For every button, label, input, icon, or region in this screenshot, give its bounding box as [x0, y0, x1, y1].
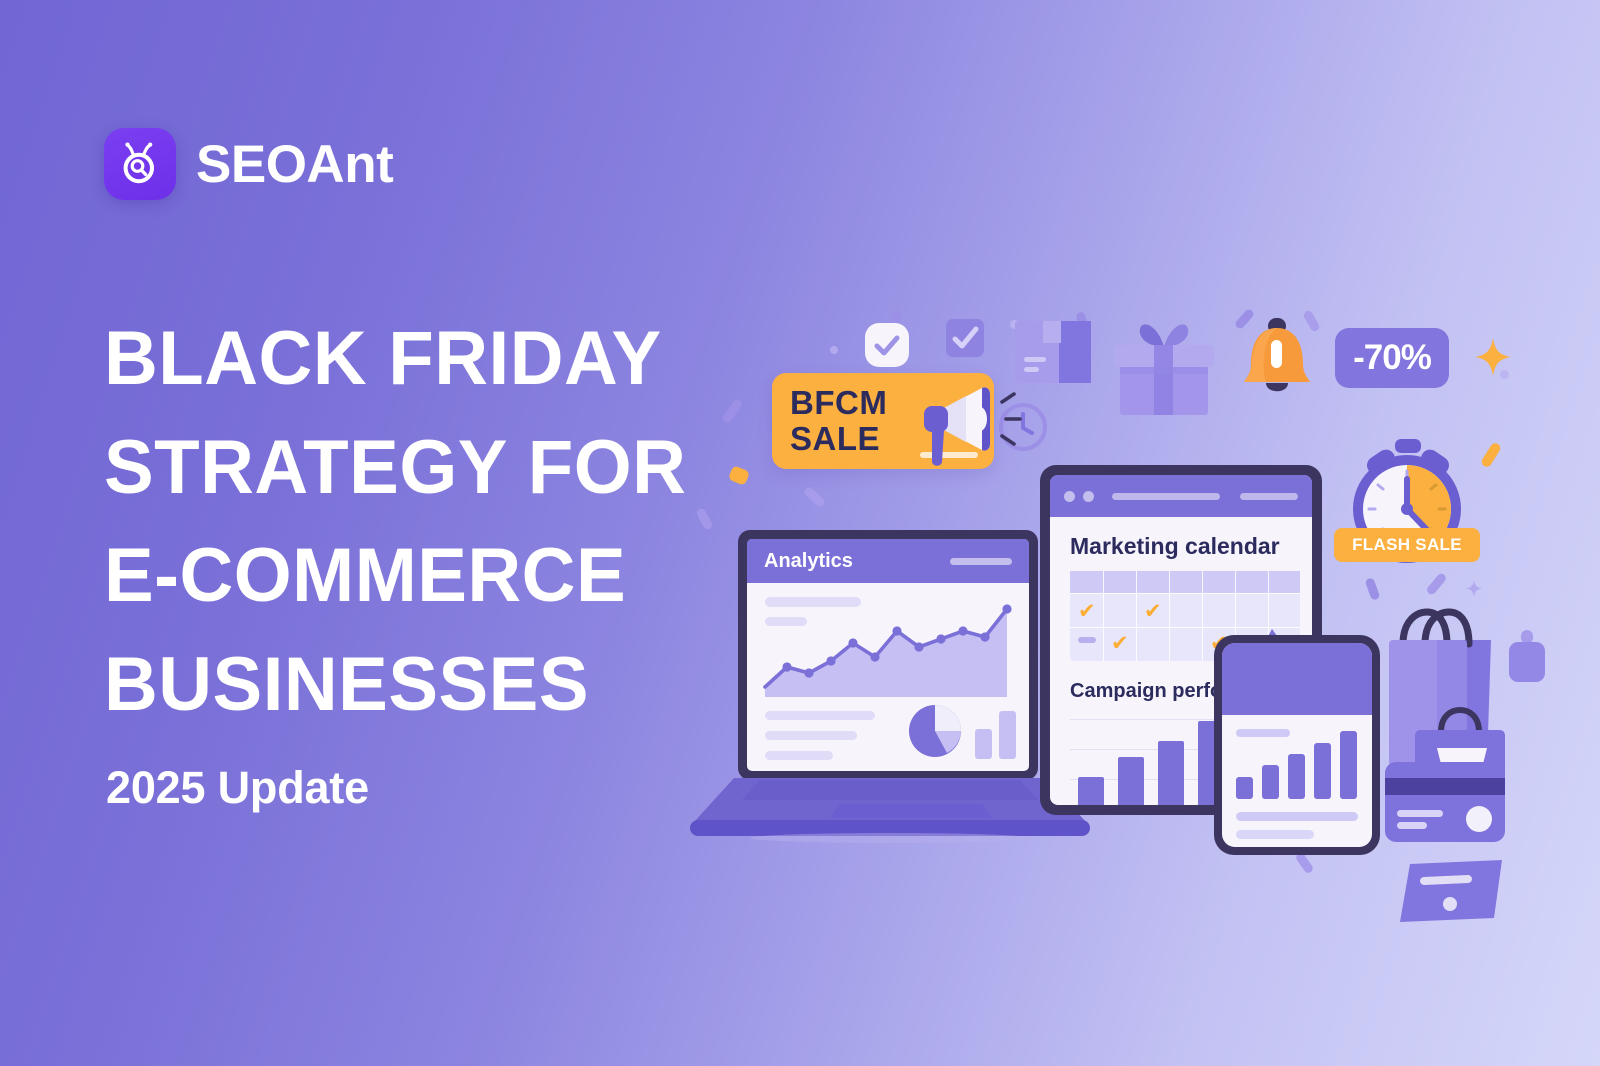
confetti-piece — [1425, 572, 1447, 596]
bar — [1288, 754, 1305, 799]
checkbox-outline-icon — [945, 318, 985, 358]
confetti-piece — [721, 398, 743, 424]
bar — [1236, 777, 1253, 799]
sparkle-icon — [1475, 338, 1511, 376]
phone-device — [1214, 635, 1380, 855]
credit-card-icon — [1398, 858, 1506, 924]
bar — [1314, 743, 1331, 799]
brand-logo[interactable]: SEOAnt — [104, 128, 393, 200]
confetti-piece — [695, 507, 713, 531]
laptop-device: Analytics — [738, 530, 1038, 780]
text-placeholder — [765, 731, 857, 740]
brand-name: SEOAnt — [196, 138, 393, 191]
window-dot — [1083, 491, 1094, 502]
window-dot — [1064, 491, 1075, 502]
bfcm-line-1: BFCM — [790, 385, 887, 421]
checkbox-filled-icon — [864, 322, 910, 368]
text-placeholder — [1236, 830, 1314, 839]
header-placeholder — [1112, 493, 1220, 500]
headline-line-4: BUSINESSES — [104, 631, 731, 740]
calendar-dash — [1078, 637, 1096, 643]
headline-line-3: E-COMMERCE — [104, 522, 731, 631]
megaphone-icon — [920, 382, 1026, 468]
laptop-dashboard — [747, 583, 1029, 771]
ant-magnifier-icon — [104, 128, 176, 200]
tag-icon — [1507, 630, 1547, 684]
phone-screen — [1222, 643, 1372, 847]
confetti-piece — [728, 465, 750, 486]
discount-badge-label: -70% — [1353, 338, 1431, 378]
laptop-screen-title: Analytics — [764, 550, 853, 573]
bfcm-badge-text: BFCM SALE — [790, 385, 887, 458]
phone-header-bar — [1222, 643, 1372, 715]
bell-icon — [1240, 318, 1314, 402]
laptop-screen: Analytics — [747, 539, 1029, 771]
calendar-check-icon: ✔ — [1111, 633, 1129, 654]
flash-sale-badge: FLASH SALE — [1334, 528, 1480, 562]
hero-illustration: -70% BFCM SALE — [680, 280, 1560, 920]
header-placeholder — [1240, 493, 1298, 500]
discount-badge: -70% — [1335, 328, 1449, 388]
banner-canvas: SEOAnt BLACK FRIDAY STRATEGY FOR E-COMME… — [0, 0, 1600, 1066]
text-placeholder — [1236, 812, 1358, 821]
tablet-heading: Marketing calendar — [1070, 533, 1280, 560]
calendar-check-icon: ✔ — [1078, 601, 1096, 622]
bar — [975, 729, 992, 759]
bar — [1118, 757, 1144, 805]
sparkle-icon — [1466, 580, 1482, 597]
tablet-header-bar — [1050, 475, 1312, 517]
bar — [999, 711, 1016, 759]
calendar-check-icon: ✔ — [1144, 601, 1162, 622]
flash-sale-label: FLASH SALE — [1352, 535, 1462, 555]
confetti-dot — [830, 346, 838, 354]
text-placeholder — [765, 751, 833, 760]
page-title: BLACK FRIDAY STRATEGY FOR E-COMMERCE BUS… — [104, 305, 744, 740]
headline-line-1: BLACK FRIDAY — [104, 305, 731, 414]
laptop-header-placeholder — [950, 558, 1012, 565]
bar — [1158, 741, 1184, 805]
credit-card-icon — [1385, 762, 1505, 842]
headline-line-2: STRATEGY FOR — [104, 414, 731, 523]
bar — [1078, 777, 1104, 805]
package-box-icon — [1015, 315, 1091, 391]
laptop-header-bar: Analytics — [747, 539, 1029, 583]
pie-chart — [907, 703, 963, 759]
confetti-piece — [1480, 441, 1502, 468]
subtitle: 2025 Update — [106, 762, 369, 814]
line-chart — [761, 601, 1023, 697]
laptop-base — [690, 778, 1090, 840]
phone-bar-chart — [1236, 731, 1361, 799]
bar — [1340, 731, 1357, 799]
confetti-piece — [803, 486, 827, 509]
bfcm-line-2: SALE — [790, 421, 887, 457]
gift-box-icon — [1112, 315, 1216, 417]
text-placeholder — [765, 711, 875, 720]
bar — [1262, 765, 1279, 799]
